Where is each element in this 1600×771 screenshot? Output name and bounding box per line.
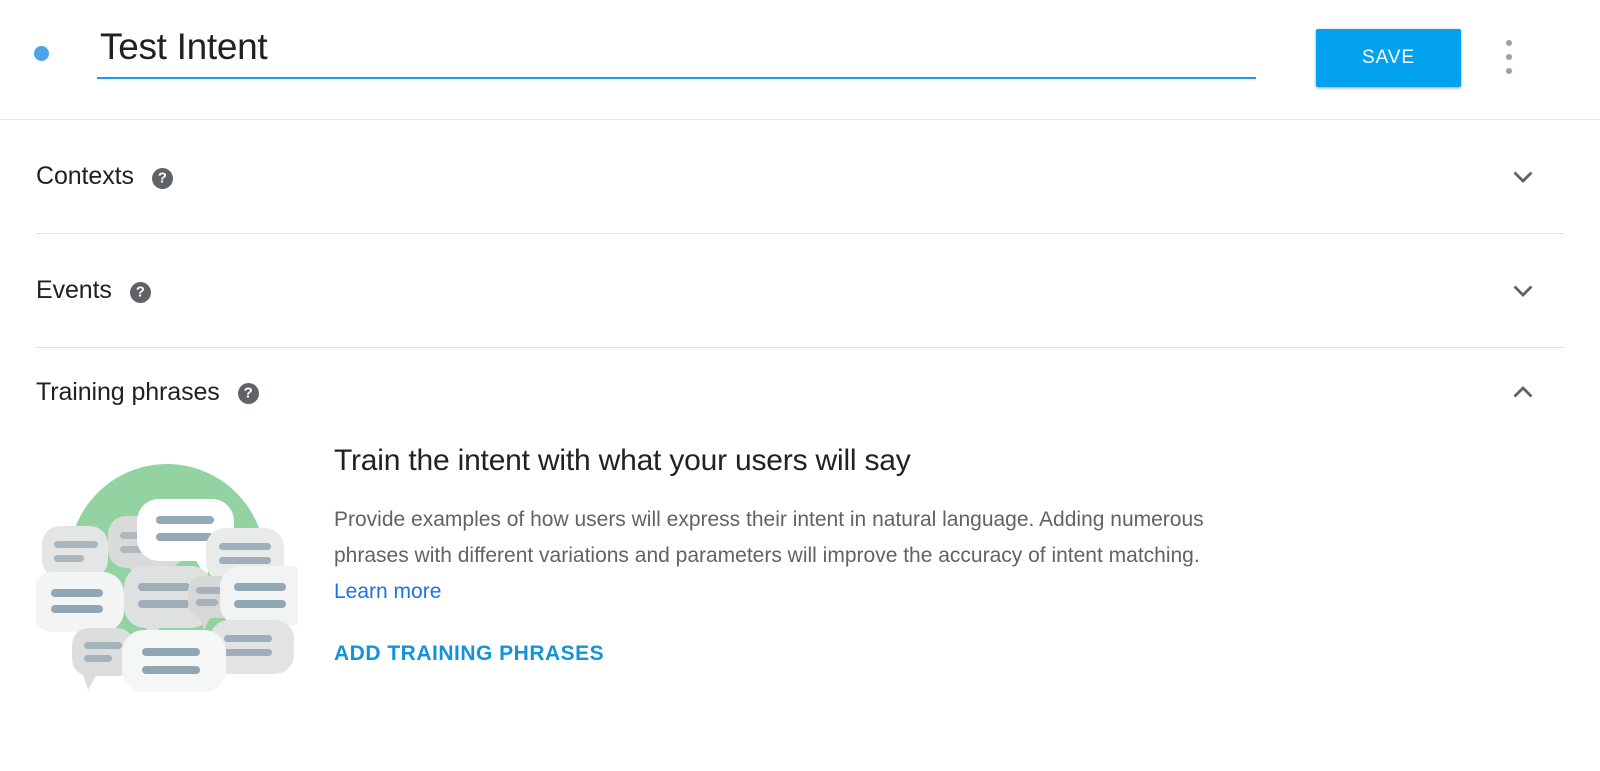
section-label-events: Events xyxy=(36,276,112,305)
chat-bubbles-illustration xyxy=(36,444,298,694)
training-phrases-description: Provide examples of how users will expre… xyxy=(334,502,1224,610)
training-phrases-copy: Train the intent with what your users wi… xyxy=(298,436,1600,694)
help-icon-glyph: ? xyxy=(136,284,145,299)
training-phrases-heading: Train the intent with what your users wi… xyxy=(334,444,1600,478)
section-header-training-phrases[interactable]: Training phrases ? xyxy=(36,348,1564,436)
help-icon-contexts[interactable]: ? xyxy=(152,168,173,189)
chevron-down-icon-events[interactable] xyxy=(1508,276,1538,306)
intent-sections: Contexts ? Events ? Training phrases ? xyxy=(0,120,1600,694)
intent-status-dot xyxy=(34,46,49,61)
more-vert-icon[interactable] xyxy=(1501,40,1517,74)
learn-more-link[interactable]: Learn more xyxy=(334,580,441,603)
training-phrases-empty-state: Train the intent with what your users wi… xyxy=(0,436,1600,694)
description-text: Provide examples of how users will expre… xyxy=(334,508,1204,567)
section-header-events[interactable]: Events ? xyxy=(36,234,1564,348)
section-header-contexts[interactable]: Contexts ? xyxy=(36,120,1564,234)
menu-dot xyxy=(1506,54,1512,60)
section-label-contexts: Contexts xyxy=(36,162,134,191)
section-label-training-phrases: Training phrases xyxy=(36,378,220,407)
menu-dot xyxy=(1506,68,1512,74)
intent-header: SAVE xyxy=(0,0,1600,120)
help-icon-glyph: ? xyxy=(244,386,253,401)
intent-title-container xyxy=(97,26,1253,79)
save-button[interactable]: SAVE xyxy=(1316,29,1461,87)
chevron-down-icon-contexts[interactable] xyxy=(1508,162,1538,192)
menu-dot xyxy=(1506,40,1512,46)
chevron-up-icon-training-phrases[interactable] xyxy=(1508,377,1538,407)
add-training-phrases-button[interactable]: ADD TRAINING PHRASES xyxy=(334,642,604,666)
help-icon-training-phrases[interactable]: ? xyxy=(238,383,259,404)
intent-name-input[interactable] xyxy=(97,26,1256,79)
help-icon-glyph: ? xyxy=(158,170,167,185)
help-icon-events[interactable]: ? xyxy=(130,282,151,303)
